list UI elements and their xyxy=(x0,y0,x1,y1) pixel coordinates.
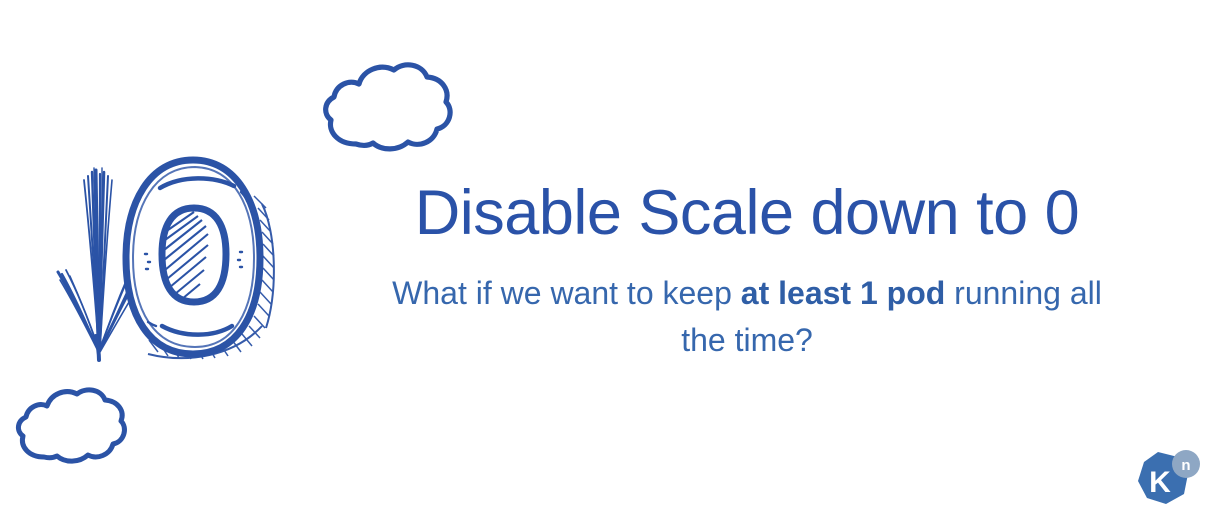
cloud-icon-top xyxy=(318,58,454,154)
page-title: Disable Scale down to 0 xyxy=(388,180,1106,246)
slide-text-block: Disable Scale down to 0 What if we want … xyxy=(388,180,1106,363)
logo-letter-n: n xyxy=(1181,457,1190,474)
zero-digit-sketch-icon xyxy=(126,160,274,359)
cloud-icon-bottom xyxy=(11,385,129,465)
slide-subtitle: What if we want to keep at least 1 pod r… xyxy=(388,270,1106,363)
subtitle-lead: What if we want to keep xyxy=(392,275,741,311)
knative-logo: K n xyxy=(1128,448,1204,520)
logo-letter-k: K xyxy=(1149,466,1171,499)
slide-canvas: Disable Scale down to 0 What if we want … xyxy=(0,0,1212,525)
scale-to-zero-illustration xyxy=(48,150,308,390)
subtitle-emphasis: at least 1 pod xyxy=(741,275,946,311)
